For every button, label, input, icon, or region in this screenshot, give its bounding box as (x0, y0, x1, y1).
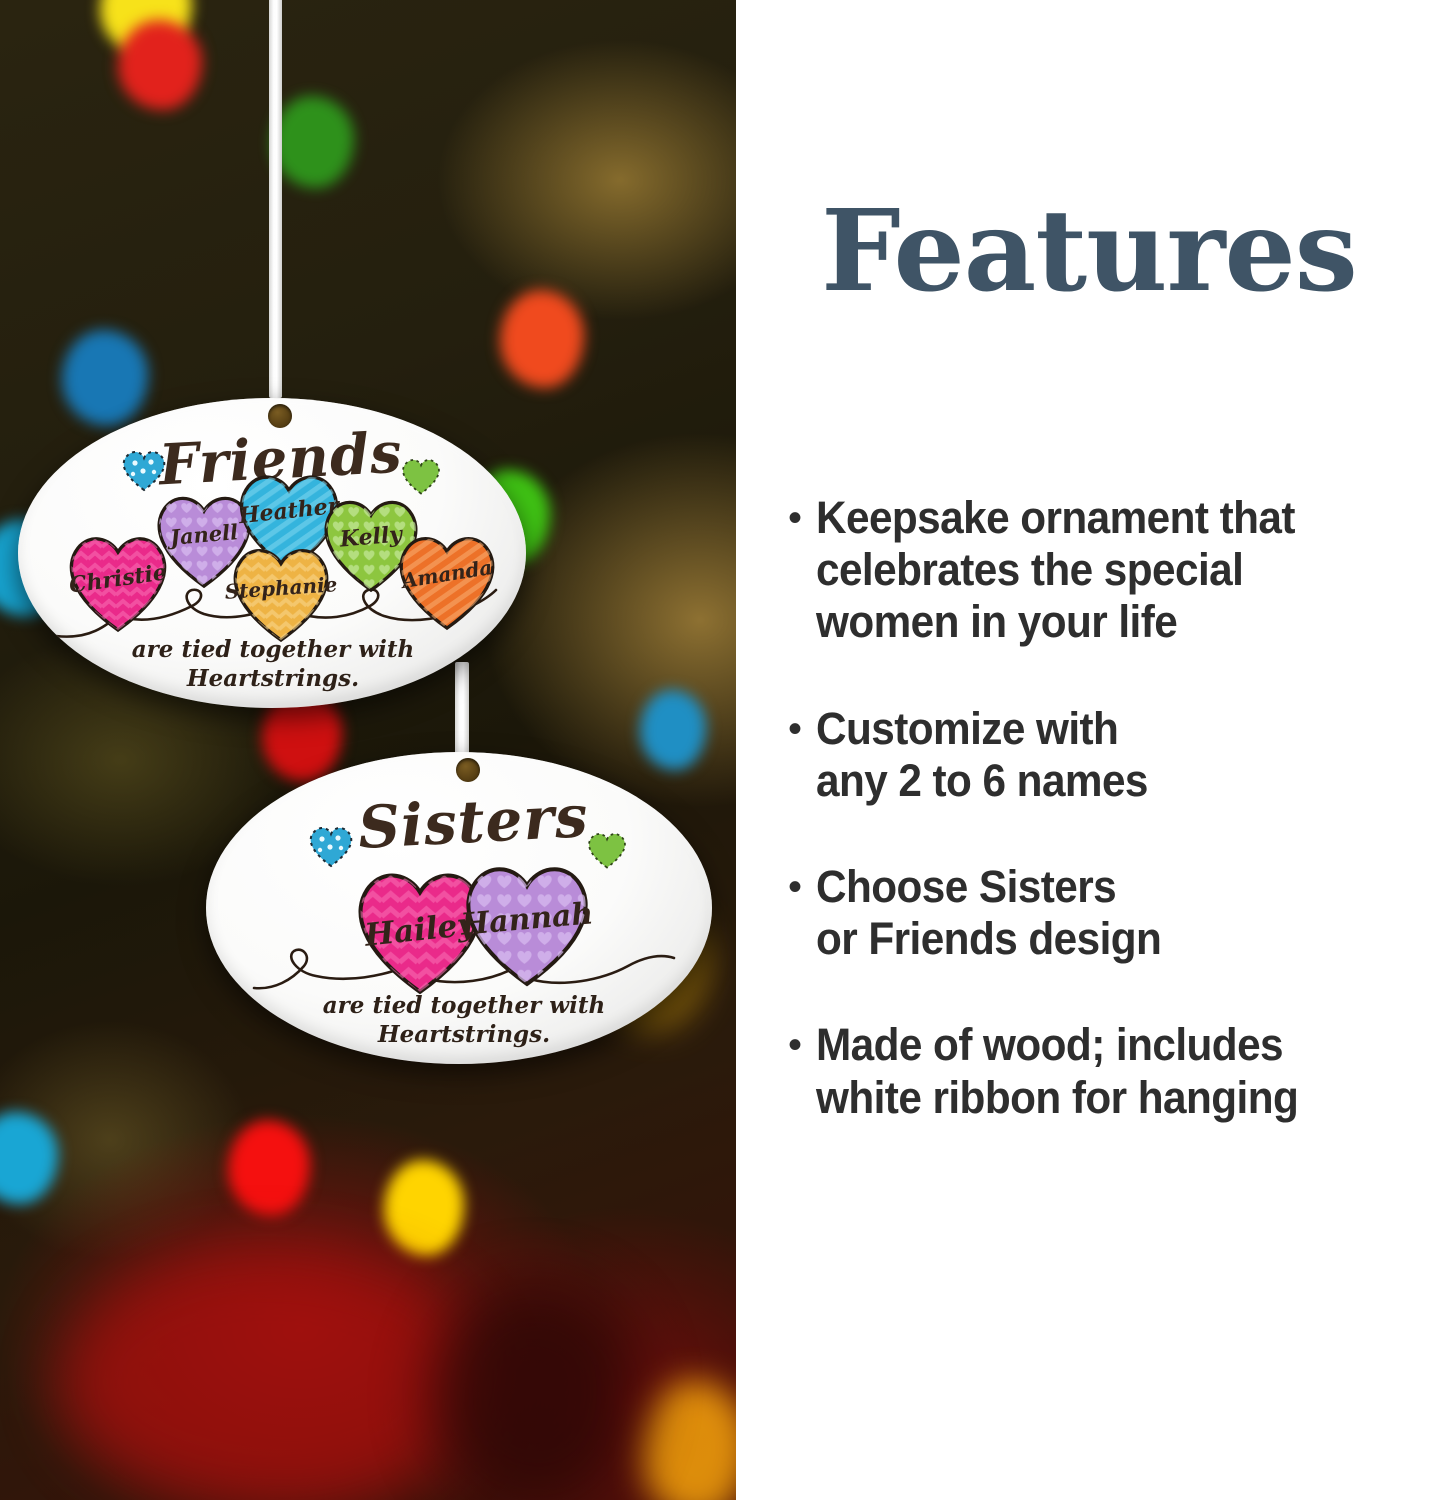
feature-item: • Keepsake ornament that celebrates the … (788, 492, 1442, 649)
bokeh-light-green (272, 96, 354, 188)
bokeh-light-red-5 (228, 1120, 310, 1216)
feature-item: • Choose Sisters or Friends design (788, 861, 1442, 965)
feature-item: • Customize with any 2 to 6 names (788, 703, 1442, 807)
feature-text: Made of wood; includes white ribbon for … (816, 1019, 1404, 1123)
ornament-sisters[interactable]: Sisters (206, 752, 712, 1064)
bokeh-glow-red (60, 1250, 480, 1500)
tagline-line-1: are tied together with (274, 992, 654, 1021)
bokeh-light-orange-2 (640, 1380, 736, 1500)
feature-text: Choose Sisters or Friends design (816, 861, 1404, 965)
bokeh-glow-dark (430, 1280, 640, 1500)
bullet-icon: • (788, 861, 816, 913)
bokeh-light-orange (500, 290, 584, 388)
features-panel: Features • Keepsake ornament that celebr… (736, 0, 1442, 1500)
hanging-ribbon-top (269, 0, 282, 398)
ornament-friends[interactable]: Friends (18, 398, 526, 708)
features-list: • Keepsake ornament that celebrates the … (788, 492, 1442, 1178)
features-heading: Features (736, 196, 1442, 308)
tagline-line-2: Heartstrings. (78, 665, 468, 694)
product-infographic: Friends (0, 0, 1442, 1500)
tagline-line-2: Heartstrings. (274, 1021, 654, 1050)
tagline-line-1: are tied together with (78, 636, 468, 665)
feature-item: • Made of wood; includes white ribbon fo… (788, 1019, 1442, 1123)
feature-text: Keepsake ornament that celebrates the sp… (816, 492, 1404, 649)
name-heart-amanda[interactable]: Amanda (390, 526, 504, 632)
ornament-tagline-friends: are tied together with Heartstrings. (78, 636, 468, 694)
product-photo: Friends (0, 0, 736, 1500)
ribbon-hole (268, 404, 292, 428)
bullet-icon: • (788, 703, 816, 755)
name-heart-hannah[interactable]: Hannah (454, 852, 600, 990)
bokeh-light-blue-2 (640, 690, 706, 770)
bullet-icon: • (788, 1019, 816, 1071)
bullet-icon: • (788, 492, 816, 544)
ornament-tagline-sisters: are tied together with Heartstrings. (274, 992, 654, 1050)
bokeh-light-red (118, 20, 202, 110)
ribbon-hole (456, 758, 480, 782)
ornament-title-sisters: Sisters (356, 782, 590, 862)
bokeh-light-blue (62, 330, 148, 426)
bokeh-light-cyan-2 (0, 1112, 58, 1204)
bokeh-light-yellow-2 (384, 1160, 464, 1256)
feature-text: Customize with any 2 to 6 names (816, 703, 1404, 807)
